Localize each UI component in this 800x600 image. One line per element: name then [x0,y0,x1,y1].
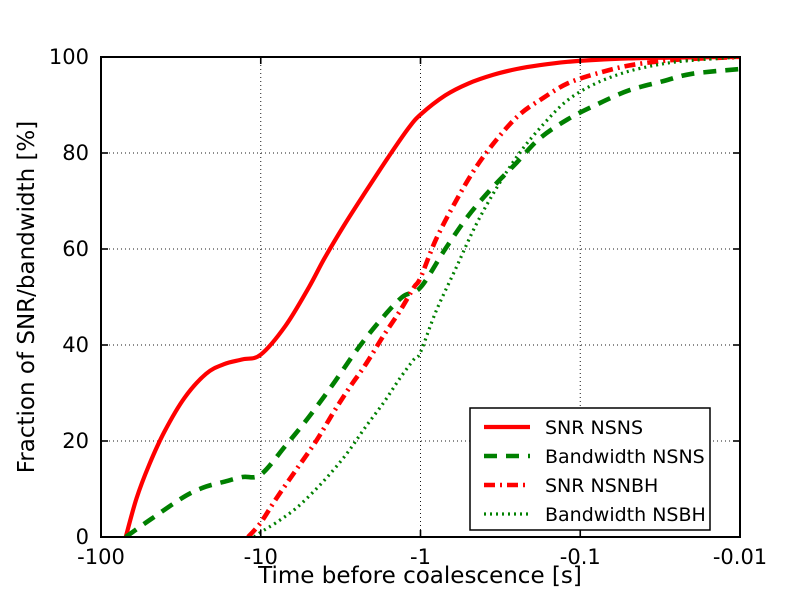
y-tick-label: 20 [62,429,89,453]
y-tick-labels: 020406080100 [49,45,89,549]
chart-figure: -100-10-1-0.1-0.01 020406080100 Time bef… [0,0,800,600]
chart-legend: SNR NSNSBandwidth NSNSSNR NSNBHBandwidth… [470,408,710,530]
legend-label-2: SNR NSNBH [545,475,658,497]
y-tick-label: 80 [62,141,89,165]
plot-canvas: -100-10-1-0.1-0.01 020406080100 Time bef… [0,0,800,600]
y-tick-label: 100 [49,45,89,69]
legend-label-0: SNR NSNS [545,417,643,439]
y-tick-label: 60 [62,237,89,261]
legend-label-1: Bandwidth NSNS [545,446,705,468]
y-tick-label: 40 [62,333,89,357]
y-axis-label: Fraction of SNR/bandwidth [%] [14,121,40,474]
x-axis-label: Time before coalescence [s] [257,563,582,589]
x-tick-label: -0.01 [713,545,767,569]
y-tick-label: 0 [76,525,89,549]
legend-label-3: Bandwidth NSBH [545,504,706,526]
